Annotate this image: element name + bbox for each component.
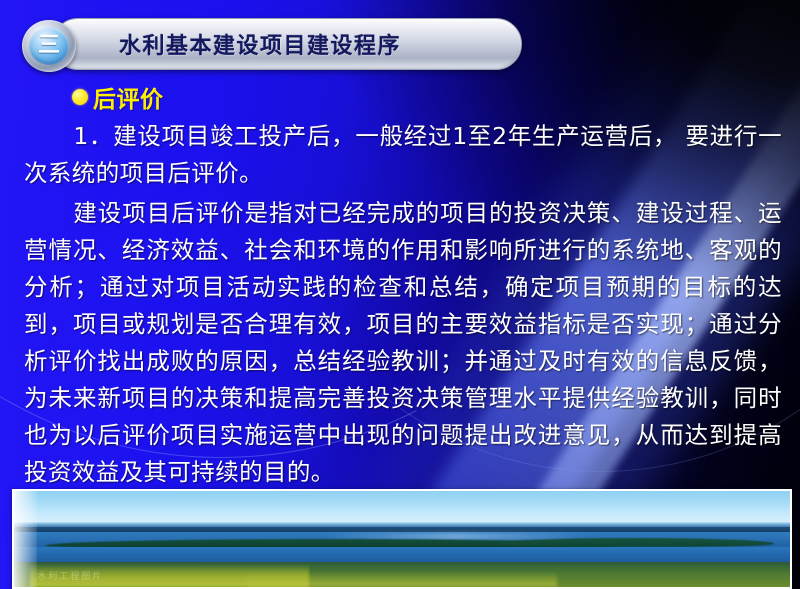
section-number-badge-inner: 三 xyxy=(29,27,69,65)
slide-header: 水利基本建设项目建设程序 三 xyxy=(22,18,522,74)
page-title: 水利基本建设项目建设程序 xyxy=(119,28,401,60)
photo-watermark: 水利工程图片 xyxy=(37,569,103,582)
body-paragraph-1: 1．建设项目竣工投产后，一般经过1至2年生产运营后， 要进行一次系统的项目后评价… xyxy=(24,118,782,192)
slide-title-pill: 水利基本建设项目建设程序 xyxy=(52,18,522,70)
yellow-bullet-icon xyxy=(72,89,88,105)
section-heading: 后评价 xyxy=(0,82,800,112)
photo-sky xyxy=(14,491,790,524)
section-number-badge: 三 xyxy=(22,20,76,72)
body-paragraph-2: 建设项目后评价是指对已经完成的项目的投资决策、建设过程、运营情况、经济效益、社会… xyxy=(24,195,782,491)
section-heading-label: 后评价 xyxy=(93,80,164,114)
photo-frame: 水利工程图片 xyxy=(12,489,792,589)
photo-left-edge-highlight xyxy=(14,491,37,587)
photo-island-right xyxy=(495,538,774,547)
body-text-block: 1．建设项目竣工投产后，一般经过1至2年生产运营后， 要进行一次系统的项目后评价… xyxy=(0,118,800,491)
presentation-slide: 水利基本建设项目建设程序 三 后评价 1．建设项目竣工投产后，一般经过1至2年生… xyxy=(0,0,800,589)
reservoir-lake-panorama-photo: 水利工程图片 xyxy=(14,491,790,587)
three-stroke-glyph-icon: 三 xyxy=(38,35,60,57)
slide-content: 后评价 1．建设项目竣工投产后，一般经过1至2年生产运营后， 要进行一次系统的项… xyxy=(0,82,800,491)
